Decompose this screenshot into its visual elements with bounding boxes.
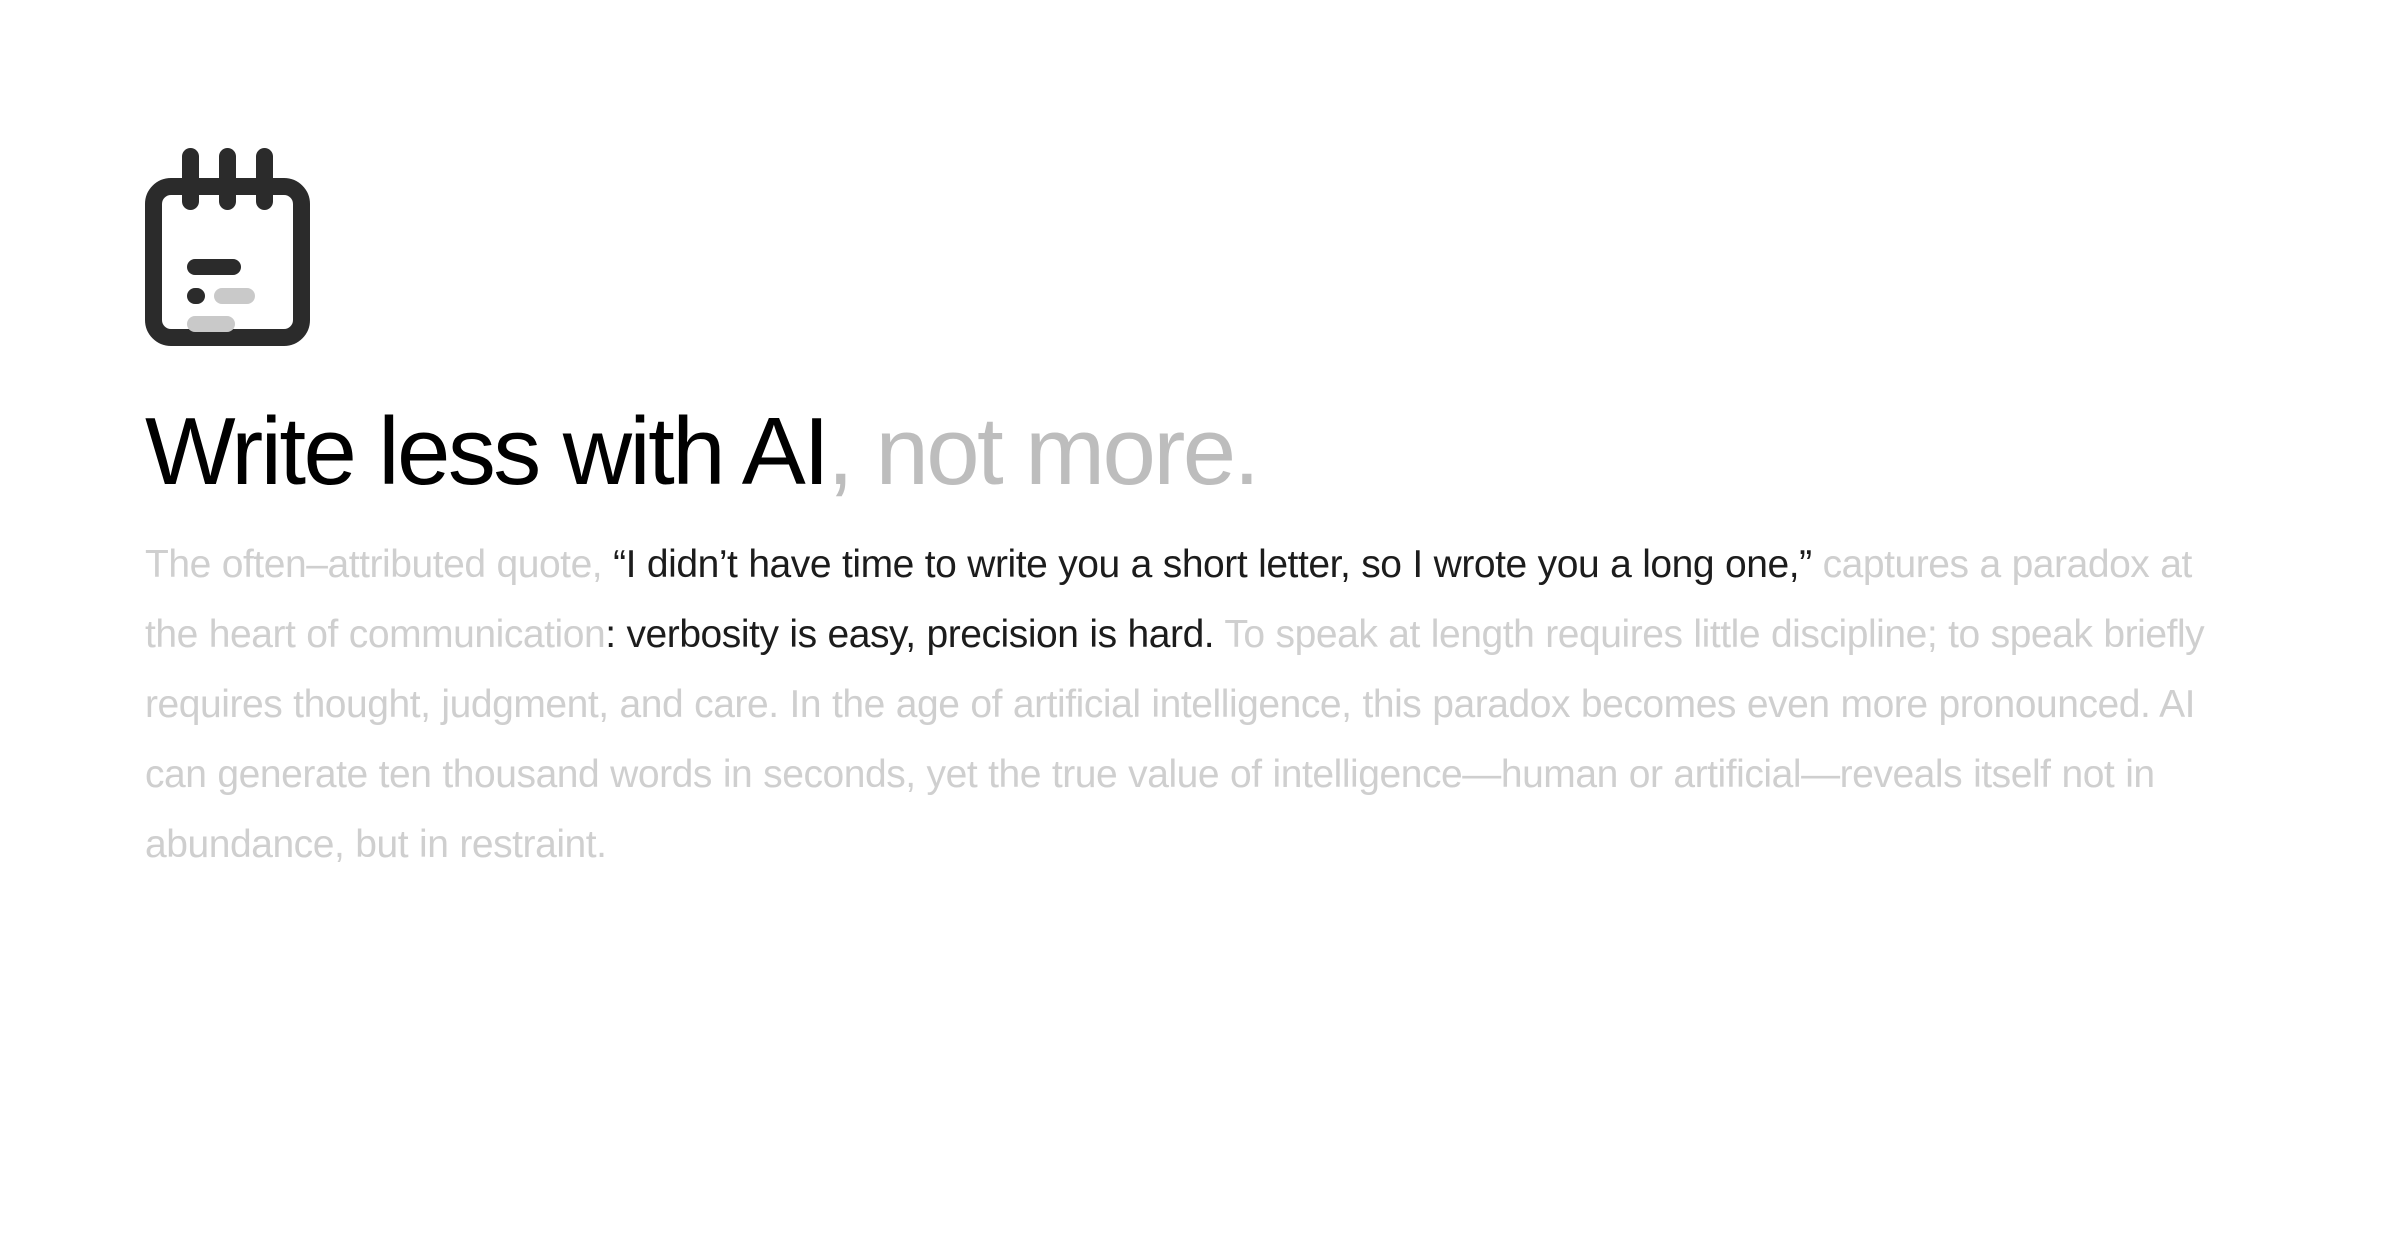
page-title: Write less with AI, not more. <box>145 400 2400 504</box>
slide-root: Write less with AI, not more. The often–… <box>0 0 2400 1260</box>
memo-ring-1 <box>182 148 199 210</box>
body-segment-strong-1: “I didn’t have time to write you a short… <box>602 543 1811 586</box>
memo-notepad-icon <box>145 148 317 348</box>
memo-line-tertiary <box>187 316 235 332</box>
body-segment-muted-0: The often–attributed quote, <box>145 543 602 586</box>
memo-line-secondary <box>214 288 255 304</box>
body-segment-strong-3: : verbosity is easy, precision is hard. <box>605 613 1214 656</box>
memo-line-primary <box>187 259 241 275</box>
memo-ring-2 <box>219 148 236 210</box>
memo-bullet-dot <box>187 288 205 304</box>
page-title-muted: , not more. <box>827 398 1257 505</box>
memo-ring-3 <box>256 148 273 210</box>
page-title-strong: Write less with AI <box>145 398 827 505</box>
body-paragraph: The often–attributed quote, “I didn’t ha… <box>145 530 2205 880</box>
